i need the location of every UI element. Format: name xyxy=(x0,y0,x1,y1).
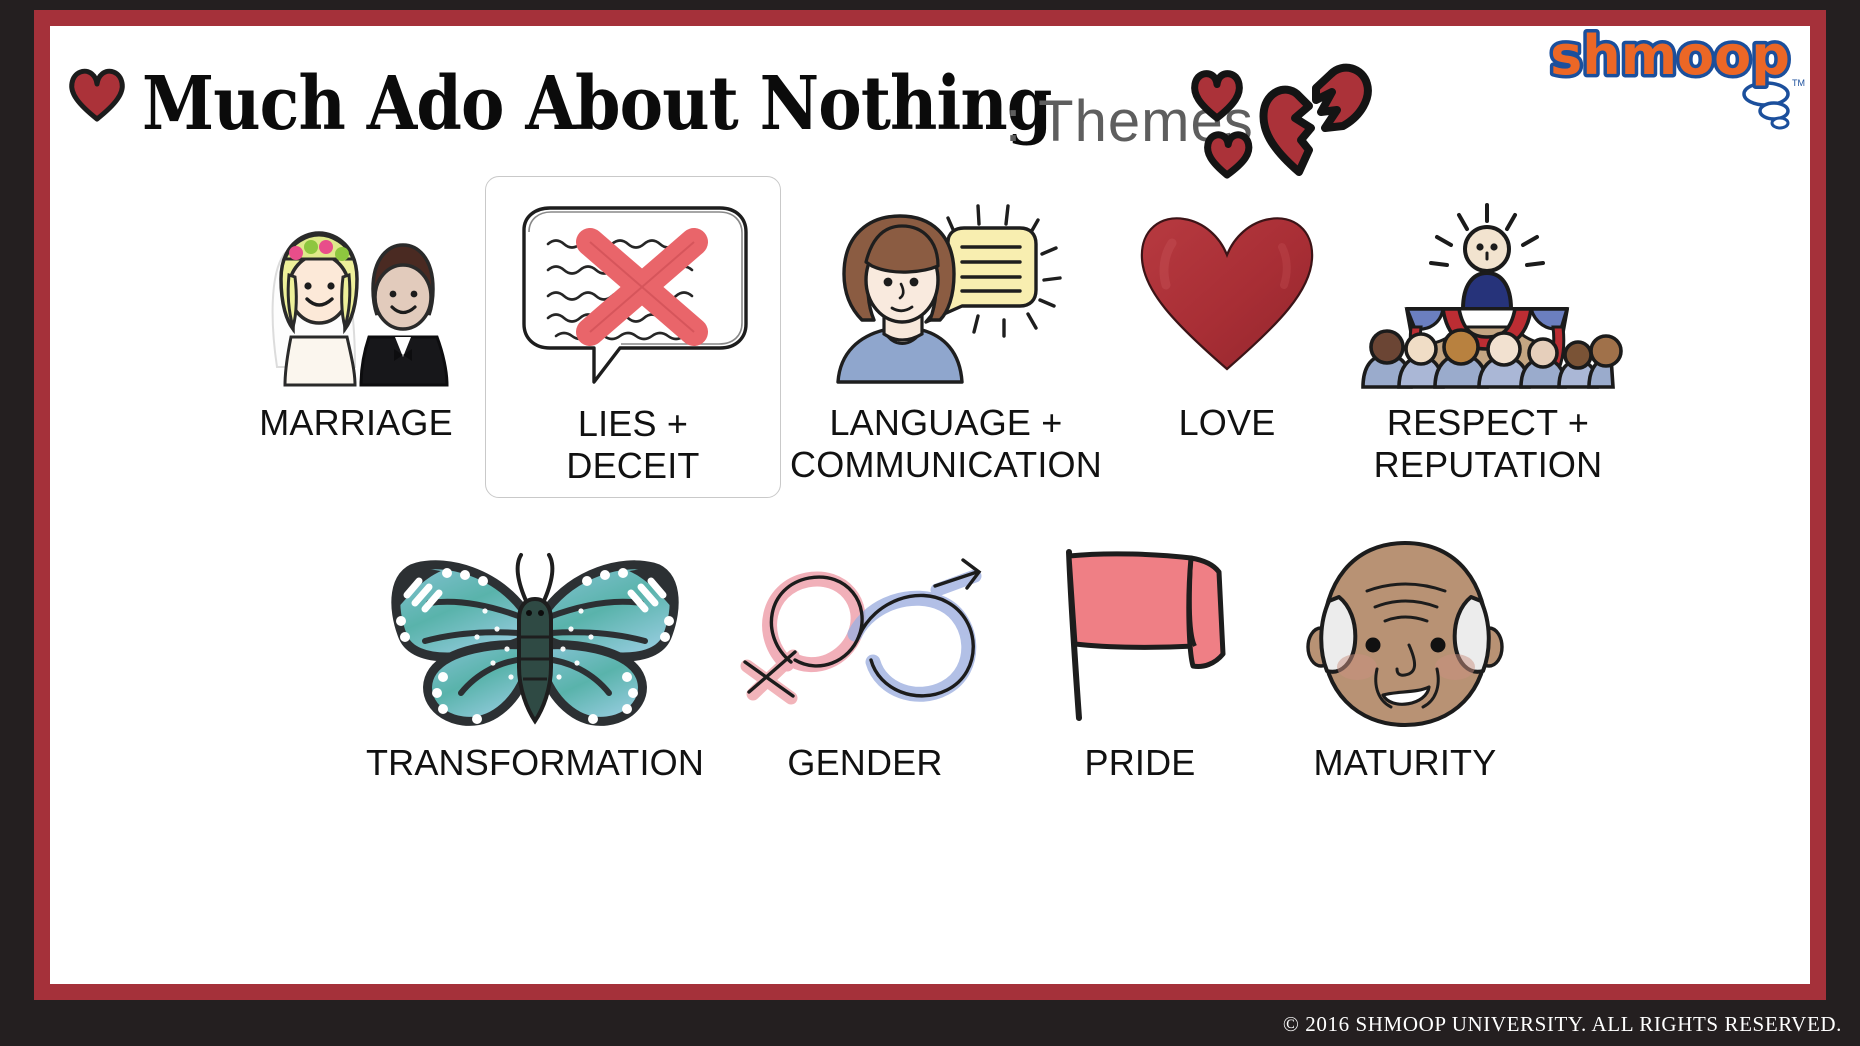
shmoop-wordmark: shmoop xyxy=(1550,26,1790,87)
theme-item-transformation[interactable]: TRANSFORMATION xyxy=(355,516,715,794)
elderly-man-face-icon xyxy=(1305,532,1505,732)
theme-label: PRIDE xyxy=(1084,742,1195,784)
theme-item-language-communication[interactable]: LANGUAGE + COMMUNICATION xyxy=(781,176,1111,496)
theme-label: MARRIAGE xyxy=(259,402,453,444)
theme-label: MATURITY xyxy=(1314,742,1497,784)
theme-row-1: MARRIAGE xyxy=(50,176,1810,498)
theme-label: GENDER xyxy=(787,742,942,784)
theme-label: RESPECT + REPUTATION xyxy=(1374,402,1603,486)
theme-row-2: TRANSFORMATION xyxy=(170,516,1730,794)
speaker-on-podium-icon xyxy=(1363,192,1613,392)
theme-item-marriage[interactable]: MARRIAGE xyxy=(227,176,485,454)
page-title: Much Ado About Nothing xyxy=(142,61,1051,147)
theme-label: LANGUAGE + COMMUNICATION xyxy=(790,402,1102,486)
theme-item-gender[interactable]: GENDER xyxy=(715,516,1015,794)
slide-header: Much Ado About Nothing : Themes xyxy=(50,26,1810,201)
theme-label: LOVE xyxy=(1179,402,1276,444)
theme-label: LIES + DECEIT xyxy=(566,403,699,487)
gender-symbols-icon xyxy=(731,532,999,732)
theme-item-lies-deceit[interactable]: LIES + DECEIT xyxy=(485,176,781,498)
woman-speaking-icon xyxy=(822,192,1070,392)
footer-copyright: © 2016 SHMOOP UNIVERSITY. ALL RIGHTS RES… xyxy=(0,1002,1860,1046)
theme-item-respect-reputation[interactable]: RESPECT + REPUTATION xyxy=(1343,176,1633,496)
copyright-text: © 2016 SHMOOP UNIVERSITY. ALL RIGHTS RES… xyxy=(1283,1012,1842,1037)
flag-icon xyxy=(1053,532,1228,732)
broken-heart-cluster-icon xyxy=(1185,40,1385,180)
svg-text:TM: TM xyxy=(1792,78,1805,88)
slide-canvas: Much Ado About Nothing : Themes xyxy=(50,26,1810,984)
shmoop-logo[interactable]: shmoop TM xyxy=(1552,26,1802,126)
theme-item-maturity[interactable]: MATURITY xyxy=(1265,516,1545,794)
butterfly-icon xyxy=(385,532,685,732)
bride-and-groom-icon xyxy=(251,192,461,392)
theme-label: TRANSFORMATION xyxy=(366,742,704,784)
slide-root: Much Ado About Nothing : Themes xyxy=(0,0,1860,1046)
crossed-out-speech-bubble-icon xyxy=(508,193,758,393)
theme-item-pride[interactable]: PRIDE xyxy=(1015,516,1265,794)
heart-icon xyxy=(1132,192,1322,392)
small-heart-icon xyxy=(68,66,126,122)
theme-item-love[interactable]: LOVE xyxy=(1111,176,1343,454)
